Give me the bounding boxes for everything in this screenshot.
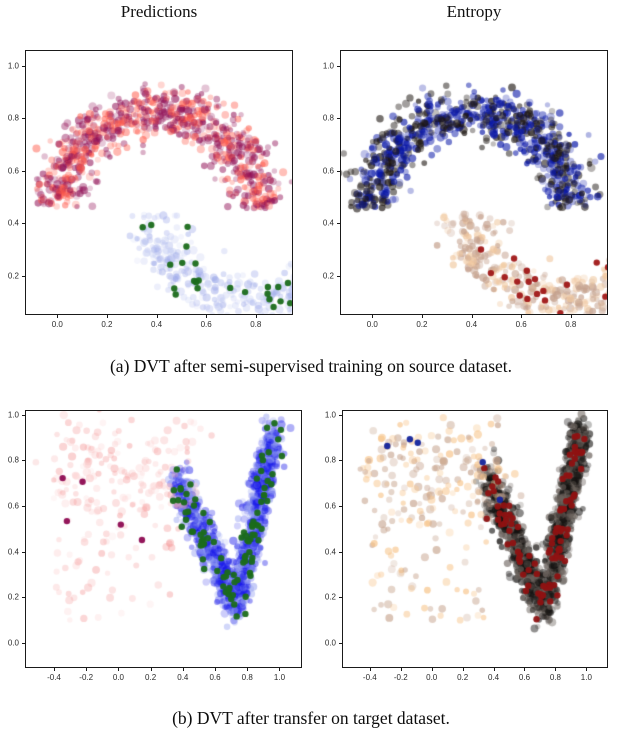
x-tick-label: 0.0 bbox=[52, 320, 63, 329]
x-tick-label: 0.6 bbox=[516, 320, 527, 329]
x-tick-label: 0.8 bbox=[565, 320, 576, 329]
x-tick-label: 1.0 bbox=[581, 673, 592, 682]
y-tick-label: 0.8 bbox=[312, 456, 336, 465]
x-tick-mark bbox=[183, 668, 184, 671]
x-tick-label: 0.0 bbox=[426, 673, 437, 682]
x-tick-mark bbox=[247, 668, 248, 671]
x-tick-label: 0.4 bbox=[488, 673, 499, 682]
y-tick-mark bbox=[339, 597, 342, 598]
x-tick-mark bbox=[422, 315, 423, 318]
y-tick-mark bbox=[22, 415, 25, 416]
figure-root: Predictions Entropy 0.00.20.40.60.81.00.… bbox=[0, 0, 622, 744]
x-tick-mark bbox=[401, 668, 402, 671]
x-tick-mark bbox=[215, 668, 216, 671]
x-tick-label: 0.8 bbox=[550, 673, 561, 682]
y-tick-mark bbox=[337, 66, 340, 67]
x-tick-mark bbox=[586, 668, 587, 671]
y-tick-label: 0.4 bbox=[312, 547, 336, 556]
plot-predictions-target[interactable] bbox=[25, 410, 302, 668]
y-tick-label: 1.0 bbox=[310, 61, 334, 70]
x-tick-mark bbox=[463, 668, 464, 671]
y-tick-mark bbox=[22, 171, 25, 172]
y-tick-mark bbox=[22, 276, 25, 277]
y-tick-mark bbox=[22, 597, 25, 598]
y-tick-mark bbox=[22, 223, 25, 224]
x-tick-label: 0.4 bbox=[177, 673, 188, 682]
x-tick-label: 0.6 bbox=[209, 673, 220, 682]
column-title-entropy: Entropy bbox=[340, 2, 608, 22]
x-tick-mark bbox=[494, 668, 495, 671]
plot-predictions-source[interactable] bbox=[25, 50, 293, 315]
y-tick-label: 0.2 bbox=[0, 271, 19, 280]
x-tick-label: 0.4 bbox=[466, 320, 477, 329]
y-tick-mark bbox=[339, 643, 342, 644]
scatter-canvas-entropy-target bbox=[343, 411, 608, 668]
x-tick-mark bbox=[370, 668, 371, 671]
y-tick-mark bbox=[22, 66, 25, 67]
plot-entropy-target[interactable] bbox=[342, 410, 608, 668]
x-tick-label: 0.2 bbox=[416, 320, 427, 329]
y-tick-mark bbox=[337, 171, 340, 172]
y-tick-label: 1.0 bbox=[312, 410, 336, 419]
y-tick-label: 0.6 bbox=[312, 501, 336, 510]
y-tick-mark bbox=[339, 415, 342, 416]
x-tick-mark bbox=[57, 315, 58, 318]
scatter-canvas-entropy-source bbox=[341, 51, 608, 315]
y-tick-label: 0.2 bbox=[310, 271, 334, 280]
caption-b: (b) DVT after transfer on target dataset… bbox=[0, 708, 622, 729]
y-tick-mark bbox=[339, 506, 342, 507]
x-tick-mark bbox=[571, 315, 572, 318]
x-tick-mark bbox=[521, 315, 522, 318]
y-tick-label: 0.2 bbox=[312, 593, 336, 602]
y-tick-mark bbox=[22, 552, 25, 553]
y-tick-label: 0.4 bbox=[310, 219, 334, 228]
x-tick-mark bbox=[524, 668, 525, 671]
x-tick-mark bbox=[151, 668, 152, 671]
x-tick-mark bbox=[118, 668, 119, 671]
x-tick-label: 0.8 bbox=[242, 673, 253, 682]
y-tick-mark bbox=[22, 643, 25, 644]
x-tick-label: 0.0 bbox=[113, 673, 124, 682]
scatter-canvas-predictions-source bbox=[26, 51, 293, 315]
x-tick-mark bbox=[256, 315, 257, 318]
y-tick-label: 0.8 bbox=[0, 456, 19, 465]
y-tick-mark bbox=[337, 223, 340, 224]
y-tick-label: 0.4 bbox=[0, 547, 19, 556]
caption-a: (a) DVT after semi-supervised training o… bbox=[0, 356, 622, 377]
x-tick-mark bbox=[555, 668, 556, 671]
x-tick-label: 0.2 bbox=[101, 320, 112, 329]
x-tick-label: 0.6 bbox=[519, 673, 530, 682]
y-tick-mark bbox=[337, 118, 340, 119]
x-tick-label: 0.8 bbox=[250, 320, 261, 329]
x-tick-mark bbox=[54, 668, 55, 671]
y-tick-label: 0.0 bbox=[0, 638, 19, 647]
x-tick-mark bbox=[206, 315, 207, 318]
x-tick-label: -0.2 bbox=[79, 673, 93, 682]
x-tick-label: -0.2 bbox=[394, 673, 408, 682]
y-tick-label: 0.4 bbox=[0, 219, 19, 228]
y-tick-mark bbox=[22, 506, 25, 507]
x-tick-mark bbox=[107, 315, 108, 318]
y-tick-label: 1.0 bbox=[0, 61, 19, 70]
x-tick-label: 0.6 bbox=[201, 320, 212, 329]
y-tick-label: 0.0 bbox=[312, 638, 336, 647]
y-tick-mark bbox=[22, 460, 25, 461]
x-tick-label: 0.4 bbox=[151, 320, 162, 329]
x-tick-mark bbox=[432, 668, 433, 671]
scatter-canvas-predictions-target bbox=[26, 411, 302, 668]
y-tick-mark bbox=[339, 552, 342, 553]
y-tick-mark bbox=[337, 276, 340, 277]
x-tick-mark bbox=[157, 315, 158, 318]
y-tick-label: 0.2 bbox=[0, 593, 19, 602]
y-tick-label: 0.6 bbox=[310, 166, 334, 175]
x-tick-mark bbox=[372, 315, 373, 318]
y-tick-mark bbox=[22, 118, 25, 119]
x-tick-mark bbox=[279, 668, 280, 671]
x-tick-label: -0.4 bbox=[47, 673, 61, 682]
plot-entropy-source[interactable] bbox=[340, 50, 608, 315]
x-tick-label: 0.0 bbox=[367, 320, 378, 329]
y-tick-label: 0.6 bbox=[0, 166, 19, 175]
column-title-predictions: Predictions bbox=[25, 2, 293, 22]
x-tick-mark bbox=[472, 315, 473, 318]
x-tick-label: 0.2 bbox=[145, 673, 156, 682]
x-tick-label: 1.0 bbox=[274, 673, 285, 682]
y-tick-mark bbox=[339, 460, 342, 461]
x-tick-label: 0.2 bbox=[457, 673, 468, 682]
x-tick-mark bbox=[86, 668, 87, 671]
y-tick-label: 0.8 bbox=[0, 114, 19, 123]
y-tick-label: 0.8 bbox=[310, 114, 334, 123]
y-tick-label: 0.6 bbox=[0, 501, 19, 510]
y-tick-label: 1.0 bbox=[0, 410, 19, 419]
x-tick-label: -0.4 bbox=[363, 673, 377, 682]
